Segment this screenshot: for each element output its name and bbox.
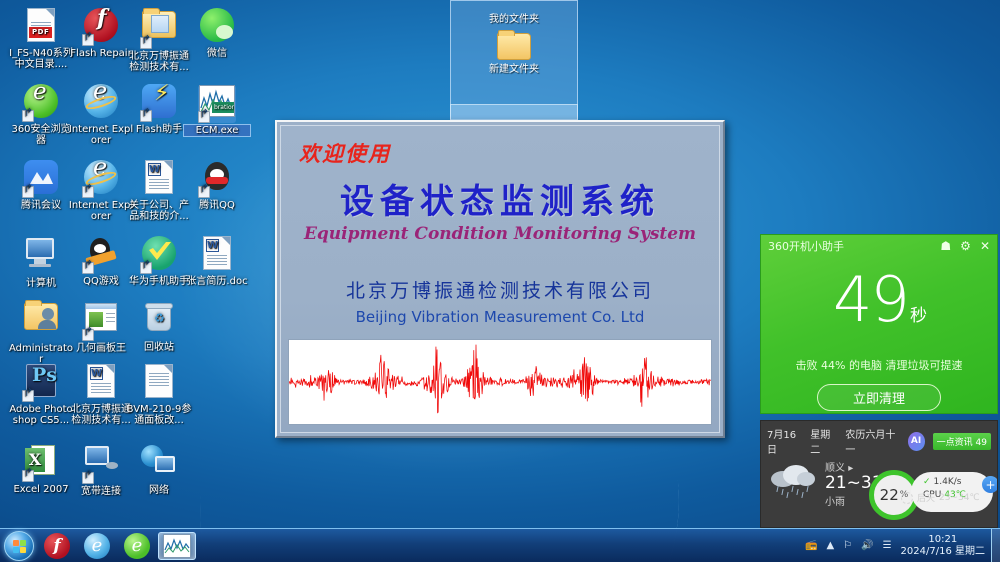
ecm-splash-content: 欢迎使用 设备状态监测系统 Equipment Condition Monito… xyxy=(280,125,720,433)
desktop-icon-label: Flash助手 xyxy=(126,124,192,135)
360-boot-time-value: 49秒 xyxy=(761,269,997,347)
weather-weekday: 星期二 xyxy=(810,426,837,456)
desktop-icon[interactable]: BVM-210-9参通面板改... xyxy=(126,362,192,426)
desktop-icon-label: 张言简历.doc xyxy=(184,276,250,287)
desktop-icon[interactable]: 网络 xyxy=(126,442,192,496)
vibration-waveform-plot xyxy=(288,339,712,425)
word-icon: W xyxy=(198,236,236,274)
start-button[interactable] xyxy=(4,531,34,561)
desktop-icon[interactable]: eInternet Explorer xyxy=(68,158,134,222)
folder-selection-window[interactable]: 我的文件夹 新建文件夹 xyxy=(450,0,578,120)
weather-widget-header: 7月16日 星期二 农历六月十一 AI 一点资讯 49 xyxy=(761,421,997,456)
desktop-icon-label: I_FS-N40系列中文目录.... xyxy=(8,48,74,70)
desktop-icon-label: Adobe Photoshop CS5... xyxy=(8,404,74,426)
splash-title-english: Equipment Condition Monitoring System xyxy=(281,224,719,244)
desktop-icon[interactable]: 腾讯QQ xyxy=(184,158,250,211)
show-desktop-button[interactable] xyxy=(991,529,1000,562)
desktop-icon[interactable]: eInternet Explorer xyxy=(68,82,134,146)
desktop-icon[interactable]: PDFI_FS-N40系列中文目录.... xyxy=(8,6,74,70)
qq-icon xyxy=(198,160,236,198)
taskbar[interactable]: fee 📻 ▲ ⚐ 🔊 ☰ 10:21 2024/7/16 星期二 xyxy=(0,528,1000,562)
windows-logo-icon xyxy=(13,540,27,554)
meeting-icon xyxy=(22,160,60,198)
computer-icon xyxy=(22,238,60,276)
clock-time: 10:21 xyxy=(901,534,985,546)
shortcut-arrow-icon xyxy=(22,186,34,198)
shortcut-arrow-icon xyxy=(198,111,210,123)
taskbar-360browser[interactable]: e xyxy=(118,532,156,560)
taskbar-flash[interactable]: f xyxy=(38,532,76,560)
weather-lunar-date: 农历六月十一 xyxy=(845,426,899,456)
desktop-icon[interactable]: 宽带连接 xyxy=(68,442,134,497)
shirt-icon[interactable]: ☗ xyxy=(940,239,951,253)
360-widget-header: 360开机小助手 ☗ ⚙ ✕ xyxy=(761,235,997,257)
desktop-icon-label: 微信 xyxy=(184,48,250,59)
desktop-icon-label: 华为手机助手 xyxy=(126,276,192,287)
desktop-icon[interactable]: W张言简历.doc xyxy=(184,234,250,287)
tomorrow-forecast: 后天 23~34℃ xyxy=(901,491,980,504)
shortcut-arrow-icon xyxy=(82,186,94,198)
system-tray[interactable]: 📻 ▲ ⚐ 🔊 ☰ 10:21 2024/7/16 星期二 xyxy=(805,534,991,558)
folder-selection-title: 我的文件夹 xyxy=(451,10,577,25)
desktop-icon[interactable]: 北京万博振通检测技术有... xyxy=(126,6,192,73)
shortcut-arrow-icon xyxy=(22,110,34,122)
desktop-icon[interactable]: ♻回收站 xyxy=(126,298,192,353)
shortcut-arrow-icon xyxy=(82,262,94,274)
desktop-icon-label: 回收站 xyxy=(126,342,192,353)
folder-open-icon xyxy=(140,11,178,49)
huawei-icon xyxy=(140,236,178,274)
desktop-icon-label: 宽带连接 xyxy=(68,486,134,497)
flash-icon: f xyxy=(82,8,120,46)
flash-helper-icon: ⚡ xyxy=(140,84,178,122)
desktop-icon-label: 北京万博振通检测技术有... xyxy=(68,404,134,426)
taskbar-ecm[interactable] xyxy=(158,532,196,560)
splash-welcome-text: 欢迎使用 xyxy=(299,138,391,168)
desktop-icon-label: 360安全浏览器 xyxy=(8,124,74,146)
desktop-icon-label: BVM-210-9参通面板改... xyxy=(126,404,192,426)
desktop-icon[interactable]: W关于公司、产品和技的介... xyxy=(126,158,192,222)
folder-item-label: 新建文件夹 xyxy=(451,60,577,75)
waveform-svg xyxy=(289,340,711,424)
desktop-icon[interactable]: Administrator xyxy=(8,298,74,365)
tomorrow-label: 后天 xyxy=(917,491,935,504)
shortcut-arrow-icon xyxy=(140,262,152,274)
desktop-icon-label: 北京万博振通检测技术有... xyxy=(126,51,192,73)
tomorrow-range: 23~34℃ xyxy=(939,493,980,503)
desktop-icon-label: 关于公司、产品和技的介... xyxy=(126,200,192,222)
360-boot-time-unit: 秒 xyxy=(910,306,925,326)
desktop-icon-label: Flash Repair xyxy=(68,48,134,59)
rain-cloud-icon xyxy=(767,459,821,501)
check-icon: ✓ xyxy=(923,476,931,489)
desktop-icon-label: 计算机 xyxy=(8,278,74,289)
desktop-icon[interactable]: fFlash Repair xyxy=(68,6,134,59)
desktop-icon[interactable]: ⚡Flash助手 xyxy=(126,82,192,135)
shortcut-arrow-icon xyxy=(140,37,152,49)
360-widget-subtitle: 击败 44% 的电脑 清理垃圾可提速 xyxy=(761,357,997,373)
clock-date: 2024/7/16 星期二 xyxy=(901,546,985,558)
desktop-icon[interactable]: QQ游戏 xyxy=(68,234,134,287)
folder-icon xyxy=(497,33,531,60)
weather-system-widget[interactable]: 7月16日 星期二 农历六月十一 AI 一点资讯 49 顺义 ▸ 21~31℃ … xyxy=(760,420,998,528)
desktop-icon[interactable]: XExcel 2007 xyxy=(8,442,74,495)
desktop-icon-label: QQ游戏 xyxy=(68,276,134,287)
clean-now-button[interactable]: 立即清理 xyxy=(817,384,941,411)
desktop-icon-label: Internet Explorer xyxy=(68,124,134,146)
word-icon: W xyxy=(82,364,120,402)
splash-company-english: Beijing Vibration Measurement Co. Ltd xyxy=(281,308,719,326)
weather-widget-body: 顺义 ▸ 21~31℃ 小雨 22% ✓ 1.4K/s CPU 43℃ + xyxy=(761,456,997,508)
splash-title-chinese: 设备状态监测系统 xyxy=(281,174,719,223)
desktop-icon[interactable]: brationECM.exe xyxy=(184,82,250,136)
volume-icon[interactable]: 🔊 xyxy=(861,540,873,551)
shortcut-arrow-icon xyxy=(22,390,34,402)
shortcut-arrow-icon xyxy=(198,186,210,198)
ie-icon: e xyxy=(82,160,120,198)
excel-icon: X xyxy=(22,444,60,482)
shortcut-arrow-icon xyxy=(140,110,152,122)
desktop-icon-label: Internet Explorer xyxy=(68,200,134,222)
desktop-icon-label: 腾讯会议 xyxy=(8,200,74,211)
doc-icon xyxy=(140,364,178,402)
desktop-icon[interactable]: 计算机 xyxy=(8,234,74,289)
wechat-icon xyxy=(198,8,236,46)
360-boot-assistant-widget[interactable]: 360开机小助手 ☗ ⚙ ✕ 49秒 击败 44% 的电脑 清理垃圾可提速 立即… xyxy=(760,234,998,414)
desktop-icon[interactable]: 华为手机助手 xyxy=(126,234,192,287)
user-folder-icon xyxy=(22,303,60,341)
folder-item[interactable]: 新建文件夹 xyxy=(451,33,577,75)
network-speed-row: ✓ 1.4K/s xyxy=(923,476,987,489)
pdf-icon: PDF xyxy=(22,8,60,46)
shortcut-arrow-icon xyxy=(82,329,94,341)
desktop-icon-label: 几何画板王 xyxy=(68,343,134,354)
window-app-icon xyxy=(82,303,120,341)
splash-company-chinese: 北京万博振通检测技术有限公司 xyxy=(281,276,719,303)
desktop-icon-label: 网络 xyxy=(126,485,192,496)
qqgame-icon xyxy=(82,236,120,274)
desktop-icon[interactable]: 微信 xyxy=(184,6,250,59)
desktop-icon[interactable]: 几何画板王 xyxy=(68,298,134,354)
network-icon[interactable]: ☰ xyxy=(883,540,892,551)
network-icon xyxy=(140,445,178,483)
word-icon: W xyxy=(140,160,178,198)
ps-icon: Ps xyxy=(22,364,60,402)
desktop-icon[interactable]: W北京万博振通检测技术有... xyxy=(68,362,134,426)
desktop[interactable]: PDFI_FS-N40系列中文目录....fFlash Repair北京万博振通… xyxy=(0,0,1000,562)
chevron-up-icon[interactable]: ▲ xyxy=(826,540,834,551)
taskbar-ie[interactable]: e xyxy=(78,532,116,560)
desktop-icon-label: 腾讯QQ xyxy=(184,200,250,211)
360-widget-title: 360开机小助手 xyxy=(768,238,931,254)
desktop-icon[interactable]: 腾讯会议 xyxy=(8,158,74,211)
radio-icon[interactable]: 📻 xyxy=(805,540,817,551)
desktop-icon-label: Excel 2007 xyxy=(8,484,74,495)
desktop-icon[interactable]: PsAdobe Photoshop CS5... xyxy=(8,362,74,426)
taskbar-button-group: fee xyxy=(38,532,198,560)
action-center-icon[interactable]: ⚐ xyxy=(843,540,852,551)
recycle-icon: ♻ xyxy=(140,302,178,340)
sun-icon xyxy=(901,492,913,504)
close-icon[interactable]: ✕ xyxy=(980,239,990,253)
desktop-icon-label: ECM.exe xyxy=(184,125,250,136)
add-icon[interactable]: + xyxy=(982,476,998,493)
shortcut-arrow-icon xyxy=(22,470,34,482)
gear-icon[interactable]: ⚙ xyxy=(960,239,971,253)
news-badge[interactable]: 一点资讯 49 xyxy=(933,433,991,450)
weather-date: 7月16日 xyxy=(767,426,802,456)
ecm-splash-window[interactable]: 欢迎使用 设备状态监测系统 Equipment Condition Monito… xyxy=(275,120,725,438)
shortcut-arrow-icon xyxy=(82,34,94,46)
ai-badge-icon[interactable]: AI xyxy=(908,432,925,451)
browser360-icon: e xyxy=(22,84,60,122)
ecm-icon: bration xyxy=(198,85,236,123)
network-speed-value: 1.4K/s xyxy=(934,476,962,489)
broadband-icon xyxy=(82,446,120,484)
shortcut-arrow-icon xyxy=(82,472,94,484)
desktop-icon[interactable]: e360安全浏览器 xyxy=(8,82,74,146)
ie-icon: e xyxy=(82,84,120,122)
taskbar-clock[interactable]: 10:21 2024/7/16 星期二 xyxy=(901,534,985,558)
